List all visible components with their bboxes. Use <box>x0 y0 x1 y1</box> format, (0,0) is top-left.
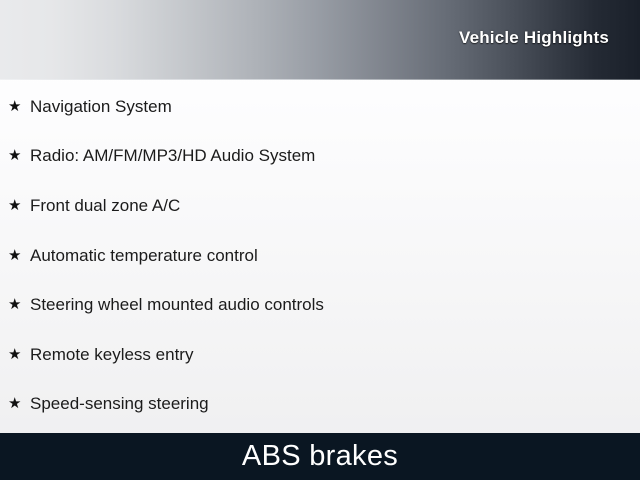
feature-label: Steering wheel mounted audio controls <box>30 295 324 315</box>
footer-banner: ABS brakes <box>0 433 640 480</box>
footer-title: ABS brakes <box>242 442 398 471</box>
vehicle-feature-list: ★ Navigation System ★ Radio: AM/FM/MP3/H… <box>0 82 640 429</box>
star-bullet-icon: ★ <box>8 248 30 263</box>
feature-label: Automatic temperature control <box>30 246 258 266</box>
feature-label: Front dual zone A/C <box>30 196 180 216</box>
list-item: ★ Front dual zone A/C <box>0 181 640 231</box>
vehicle-highlights-slide: Vehicle Highlights ★ Navigation System ★… <box>0 0 640 480</box>
star-bullet-icon: ★ <box>8 347 30 362</box>
list-item: ★ Automatic temperature control <box>0 231 640 281</box>
star-bullet-icon: ★ <box>8 396 30 411</box>
star-bullet-icon: ★ <box>8 198 30 213</box>
list-item: ★ Navigation System <box>0 82 640 132</box>
feature-label: Radio: AM/FM/MP3/HD Audio System <box>30 146 315 166</box>
star-bullet-icon: ★ <box>8 148 30 163</box>
feature-label: Navigation System <box>30 97 172 117</box>
feature-label: Remote keyless entry <box>30 345 193 365</box>
header-banner: Vehicle Highlights <box>0 0 640 79</box>
list-item: ★ Radio: AM/FM/MP3/HD Audio System <box>0 132 640 182</box>
star-bullet-icon: ★ <box>8 297 30 312</box>
header-divider <box>0 79 640 80</box>
star-bullet-icon: ★ <box>8 99 30 114</box>
page-title: Vehicle Highlights <box>459 28 609 48</box>
list-item: ★ Steering wheel mounted audio controls <box>0 280 640 330</box>
feature-label: Speed-sensing steering <box>30 394 209 414</box>
list-item: ★ Remote keyless entry <box>0 330 640 380</box>
list-item: ★ Speed-sensing steering <box>0 380 640 430</box>
